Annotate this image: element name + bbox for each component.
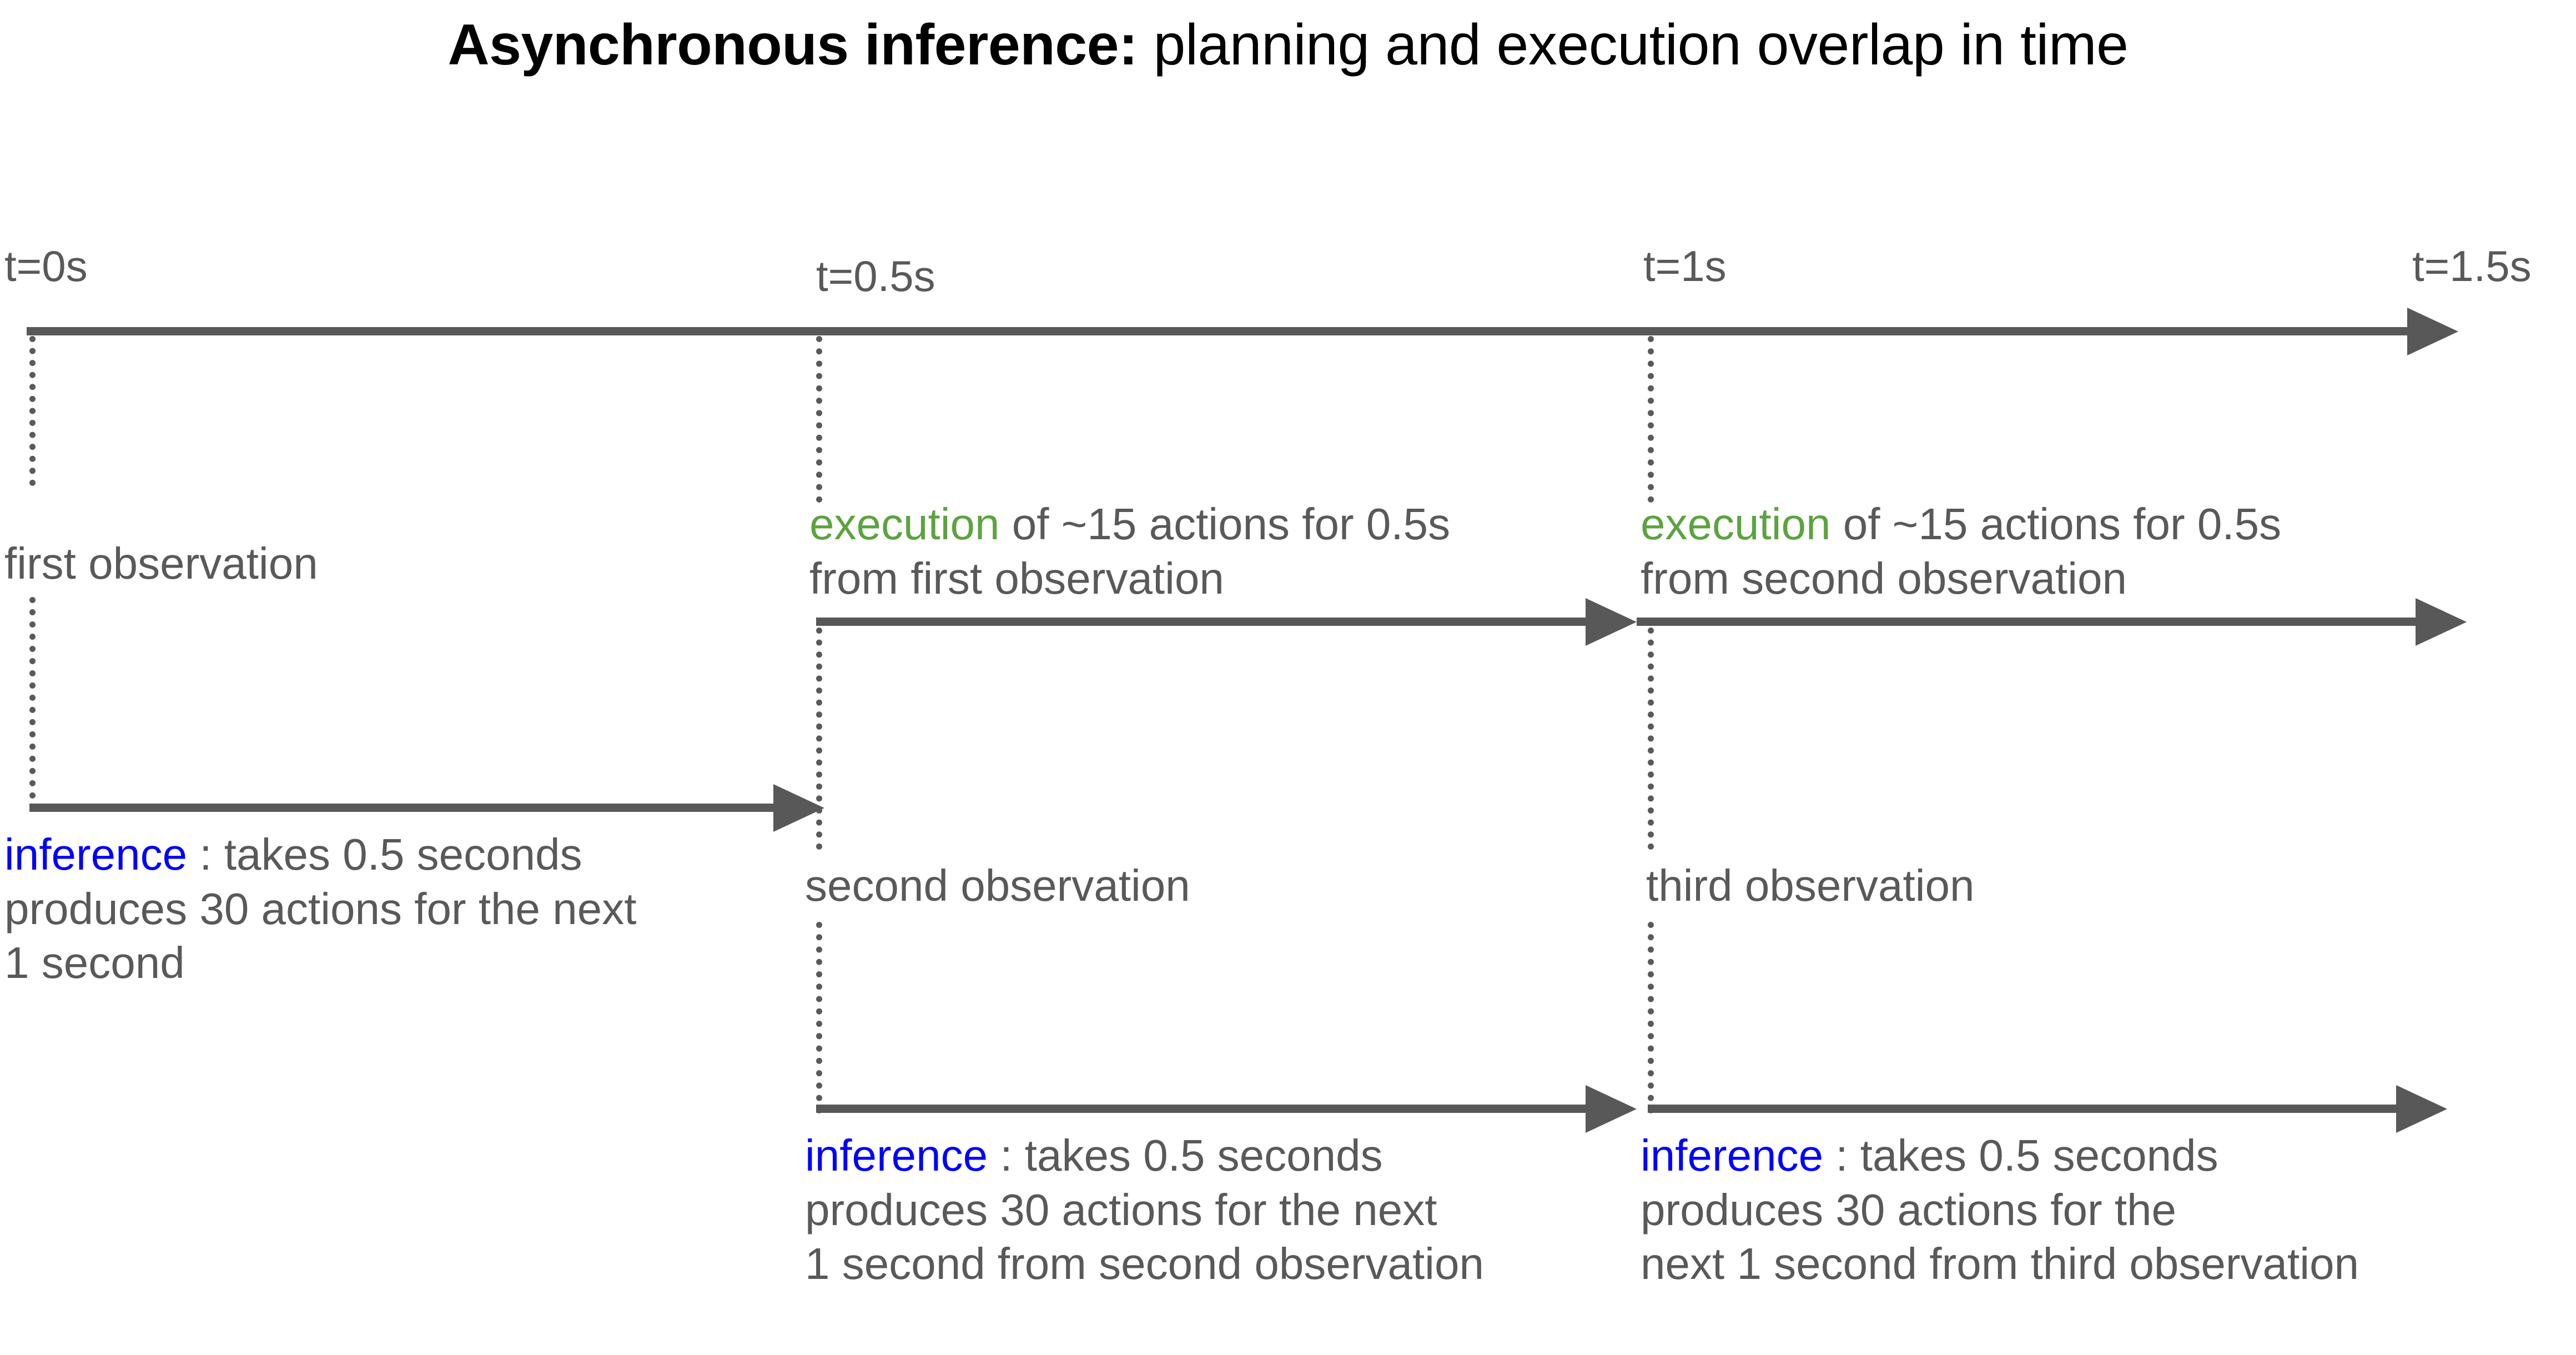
inference-line3-3: next 1 second from third observation: [1641, 1239, 2359, 1288]
tick-label-t0: t=0s: [4, 244, 88, 288]
execution-arrow-2-arrowhead: [2416, 598, 2467, 646]
inference-arrow-2-shaft: [816, 1105, 1587, 1113]
inference-arrow-2-arrowhead: [1586, 1085, 1637, 1133]
guide-line-t1-mid: [1648, 628, 1654, 850]
tick-label-t1: t=1s: [1643, 244, 1727, 288]
guide-line-t0-lower: [29, 597, 36, 811]
execution-line2-1: from first observation: [809, 554, 1224, 603]
inference-line2-3: produces 30 actions for the: [1641, 1185, 2176, 1234]
execution-line1-rest-1: of ~15 actions for 0.5s: [999, 499, 1450, 549]
guide-line-t0-upper: [29, 336, 36, 486]
guide-line-t05-upper: [816, 336, 822, 503]
guide-line-t1-lower: [1648, 922, 1654, 1113]
inference-line1-rest-1: : takes 0.5 seconds: [187, 830, 582, 879]
execution-arrow-1-arrowhead: [1586, 598, 1637, 646]
time-axis-shaft: [27, 327, 2408, 335]
inference-line2-2: produces 30 actions for the next: [805, 1185, 1437, 1234]
diagram-canvas: Asynchronous inference: planning and exe…: [0, 0, 2576, 1355]
inference-line3-1: 1 second: [4, 938, 185, 987]
inference-keyword-1: inference: [4, 830, 187, 879]
observation-label-first: first observation: [4, 536, 318, 594]
tick-label-t05: t=0.5s: [816, 254, 935, 298]
inference-block-1: inference : takes 0.5 seconds produces 3…: [4, 827, 636, 990]
inference-arrow-1-shaft: [29, 804, 774, 812]
inference-line1-rest-3: : takes 0.5 seconds: [1823, 1131, 2218, 1180]
inference-arrow-1-arrowhead: [773, 784, 824, 832]
observation-label-third: third observation: [1646, 858, 1974, 916]
execution-keyword-2: execution: [1641, 499, 1830, 549]
guide-line-t1-upper: [1648, 336, 1654, 503]
inference-line1-rest-2: : takes 0.5 seconds: [988, 1131, 1383, 1180]
page-title-rest: planning and execution overlap in time: [1138, 13, 2128, 77]
inference-arrow-3-arrowhead: [2396, 1085, 2447, 1133]
page-title-bold: Asynchronous inference:: [448, 13, 1138, 77]
execution-block-1: execution of ~15 actions for 0.5s from f…: [809, 497, 1450, 605]
execution-arrow-2-shaft: [1637, 618, 2417, 626]
inference-line2-1: produces 30 actions for the next: [4, 884, 636, 934]
time-axis-arrowhead: [2407, 308, 2458, 355]
inference-keyword-3: inference: [1641, 1131, 1823, 1180]
execution-block-2: execution of ~15 actions for 0.5s from s…: [1641, 497, 2281, 605]
inference-keyword-2: inference: [805, 1131, 988, 1180]
execution-keyword-1: execution: [809, 499, 999, 549]
inference-arrow-3-shaft: [1648, 1105, 2397, 1113]
guide-line-t05-lower: [816, 922, 822, 1113]
inference-block-2: inference : takes 0.5 seconds produces 3…: [805, 1128, 1484, 1291]
tick-label-t15: t=1.5s: [2412, 244, 2532, 288]
inference-line3-2: 1 second from second observation: [805, 1239, 1484, 1288]
execution-line1-rest-2: of ~15 actions for 0.5s: [1830, 499, 2281, 549]
inference-block-3: inference : takes 0.5 seconds produces 3…: [1641, 1128, 2359, 1291]
observation-label-second: second observation: [805, 858, 1190, 916]
execution-arrow-1-shaft: [816, 618, 1587, 626]
execution-line2-2: from second observation: [1641, 554, 2127, 603]
page-title: Asynchronous inference: planning and exe…: [0, 11, 2576, 79]
